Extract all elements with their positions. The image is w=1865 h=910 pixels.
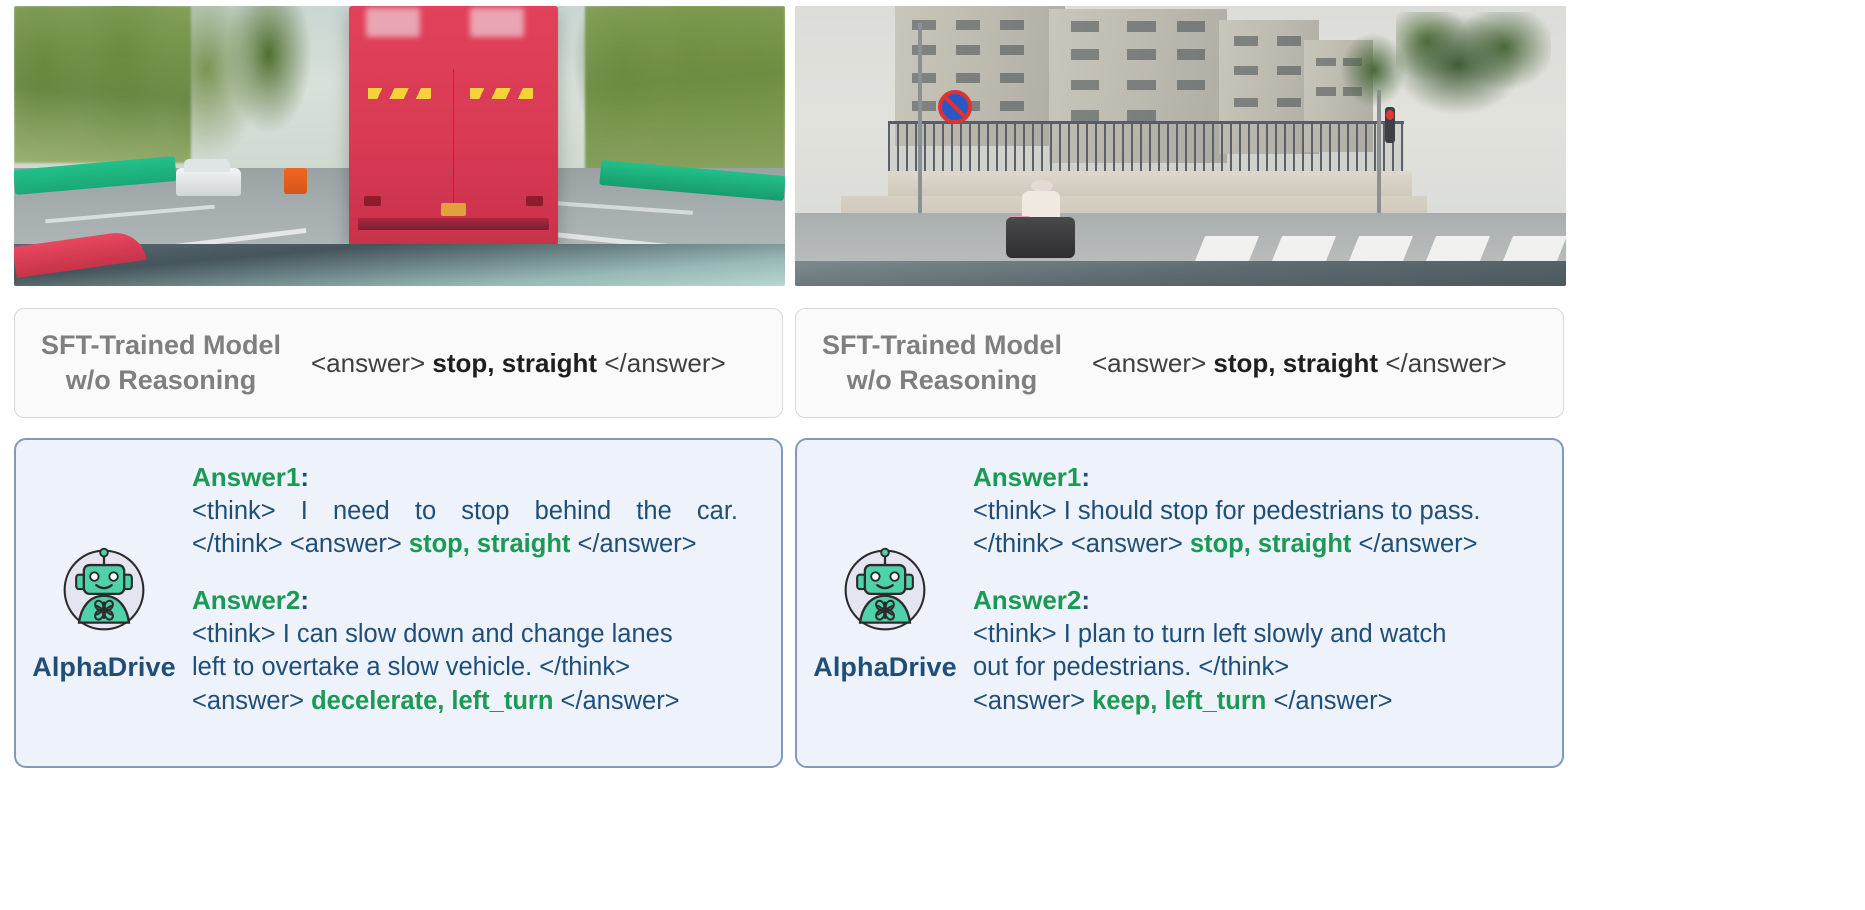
sft-answer-right: <answer> stop, straight </answer>: [1088, 348, 1563, 379]
answer2-pre: <answer>: [973, 687, 1092, 715]
driving-scene-image-left: [14, 6, 785, 286]
sft-model-box-right: SFT-Trained Model w/o Reasoning <answer>…: [795, 308, 1564, 418]
alphadrive-brand-left: AlphaDrive: [16, 440, 192, 766]
answer1-answer-line: </think> <answer> stop, straight </answe…: [973, 528, 1548, 561]
alphadrive-answers-left: Answer1: <think> I need to stop behind t…: [192, 440, 781, 766]
answer-close-tag: </answer>: [1385, 348, 1506, 378]
answer1-heading-text: Answer1: [973, 462, 1081, 492]
sft-model-box-left: SFT-Trained Model w/o Reasoning <answer>…: [14, 308, 783, 418]
no-parking-sign: [938, 90, 972, 124]
answer1-pre: </think> <answer>: [973, 530, 1190, 558]
answer1-heading-text: Answer1: [192, 462, 300, 492]
answer2-post: </answer>: [553, 687, 679, 715]
answer2-think-line-1: <think> I can slow down and change lanes: [192, 618, 767, 651]
answer-value: stop, straight: [1213, 348, 1378, 378]
answer-open-tag: <answer>: [1092, 348, 1206, 378]
sft-label-line2: w/o Reasoning: [15, 363, 307, 398]
answer1-think-line: <think> I need to stop behind the car.: [192, 495, 738, 528]
alphadrive-box-left: AlphaDrive Answer1: <think> I need to st…: [14, 438, 783, 768]
answer1-colon: :: [1081, 462, 1090, 492]
robot-avatar-icon: [56, 542, 152, 638]
answer1-answer-line: </think> <answer> stop, straight </answe…: [192, 528, 767, 561]
lead-truck: [349, 6, 557, 247]
answer-value: stop, straight: [432, 348, 597, 378]
robot-avatar-icon: [837, 542, 933, 638]
answer-open-tag: <answer>: [311, 348, 425, 378]
answer2-think-line-2: out for pedestrians. </think>: [973, 651, 1548, 684]
answer2-post: </answer>: [1266, 687, 1392, 715]
sft-label-line2: w/o Reasoning: [796, 363, 1088, 398]
alphadrive-answers-right: Answer1: <think> I should stop for pedes…: [973, 440, 1562, 766]
sft-label-line1: SFT-Trained Model: [15, 328, 307, 363]
answer2-colon: :: [1081, 585, 1090, 615]
sft-model-label-left: SFT-Trained Model w/o Reasoning: [15, 328, 307, 397]
answer1-value: stop, straight: [409, 530, 571, 558]
comparison-column-left: SFT-Trained Model w/o Reasoning <answer>…: [14, 0, 785, 910]
answer1-heading: Answer1:: [973, 462, 1548, 493]
sft-model-label-right: SFT-Trained Model w/o Reasoning: [796, 328, 1088, 397]
answer2-value: keep, left_turn: [1092, 687, 1266, 715]
answer1-post: </answer>: [570, 530, 696, 558]
sft-answer-left: <answer> stop, straight </answer>: [307, 348, 782, 379]
traffic-light-red: [1385, 107, 1395, 143]
answer2-heading-text: Answer2: [192, 585, 300, 615]
driving-scene-image-right: [795, 6, 1566, 286]
comparison-column-right: SFT-Trained Model w/o Reasoning <answer>…: [795, 0, 1566, 910]
answer2-think-line-1: <think> I plan to turn left slowly and w…: [973, 618, 1548, 651]
answer2-answer-line: <answer> decelerate, left_turn </answer>: [192, 685, 767, 718]
answer1-pre: </think> <answer>: [192, 530, 409, 558]
answer1-think-line: <think> I should stop for pedestrians to…: [973, 495, 1548, 528]
answer2-heading: Answer2:: [973, 585, 1548, 616]
alphadrive-box-right: AlphaDrive Answer1: <think> I should sto…: [795, 438, 1564, 768]
alphadrive-name-label: AlphaDrive: [32, 652, 176, 683]
alphadrive-brand-right: AlphaDrive: [797, 440, 973, 766]
figure-root: SFT-Trained Model w/o Reasoning <answer>…: [0, 0, 1865, 910]
scooter-rider: [1019, 180, 1065, 258]
answer1-heading: Answer1:: [192, 462, 767, 493]
answer2-pre: <answer>: [192, 687, 311, 715]
answer2-answer-line: <answer> keep, left_turn </answer>: [973, 685, 1548, 718]
sft-label-line1: SFT-Trained Model: [796, 328, 1088, 363]
answer2-heading: Answer2:: [192, 585, 767, 616]
answer1-value: stop, straight: [1190, 530, 1352, 558]
alphadrive-name-label: AlphaDrive: [813, 652, 957, 683]
answer2-value: decelerate, left_turn: [311, 687, 553, 715]
answer2-heading-text: Answer2: [973, 585, 1081, 615]
answer2-colon: :: [300, 585, 309, 615]
answer-close-tag: </answer>: [604, 348, 725, 378]
answer1-post: </answer>: [1351, 530, 1477, 558]
answer2-think-line-2: left to overtake a slow vehicle. </think…: [192, 651, 767, 684]
answer1-colon: :: [300, 462, 309, 492]
